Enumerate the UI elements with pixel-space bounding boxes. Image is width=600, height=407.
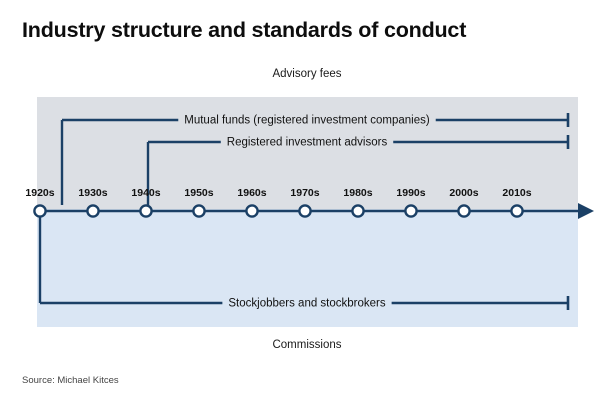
tick-marker-1980s[interactable] bbox=[352, 205, 363, 216]
tick-label-1930s: 1930s bbox=[78, 187, 107, 199]
tick-label-1990s: 1990s bbox=[396, 187, 425, 199]
bracket-label-1: Registered investment advisors bbox=[227, 137, 388, 149]
tick-marker-1940s[interactable] bbox=[140, 205, 151, 216]
tick-label-1970s: 1970s bbox=[290, 187, 319, 199]
bottom-region-label: Commissions bbox=[0, 339, 600, 351]
tick-marker-1960s[interactable] bbox=[246, 205, 257, 216]
tick-marker-1990s[interactable] bbox=[405, 205, 416, 216]
tick-label-1980s: 1980s bbox=[343, 187, 372, 199]
axis-arrowhead bbox=[578, 203, 594, 219]
tick-label-1960s: 1960s bbox=[237, 187, 266, 199]
tick-marker-1970s[interactable] bbox=[299, 205, 310, 216]
tick-marker-1930s[interactable] bbox=[87, 205, 98, 216]
tick-marker-2000s[interactable] bbox=[458, 205, 469, 216]
tick-label-2000s: 2000s bbox=[449, 187, 478, 199]
source-note: Source: Michael Kitces bbox=[22, 375, 119, 386]
tick-marker-1950s[interactable] bbox=[193, 205, 204, 216]
tick-label-2010s: 2010s bbox=[502, 187, 531, 199]
bracket-label-2: Stockjobbers and stockbrokers bbox=[228, 298, 385, 310]
tick-label-1950s: 1950s bbox=[184, 187, 213, 199]
bracket-label-0: Mutual funds (registered investment comp… bbox=[184, 115, 430, 127]
tick-label-1940s: 1940s bbox=[131, 187, 160, 199]
tick-label-1920s: 1920s bbox=[25, 187, 54, 199]
tick-marker-1920s[interactable] bbox=[34, 205, 45, 216]
tick-marker-2010s[interactable] bbox=[511, 205, 522, 216]
